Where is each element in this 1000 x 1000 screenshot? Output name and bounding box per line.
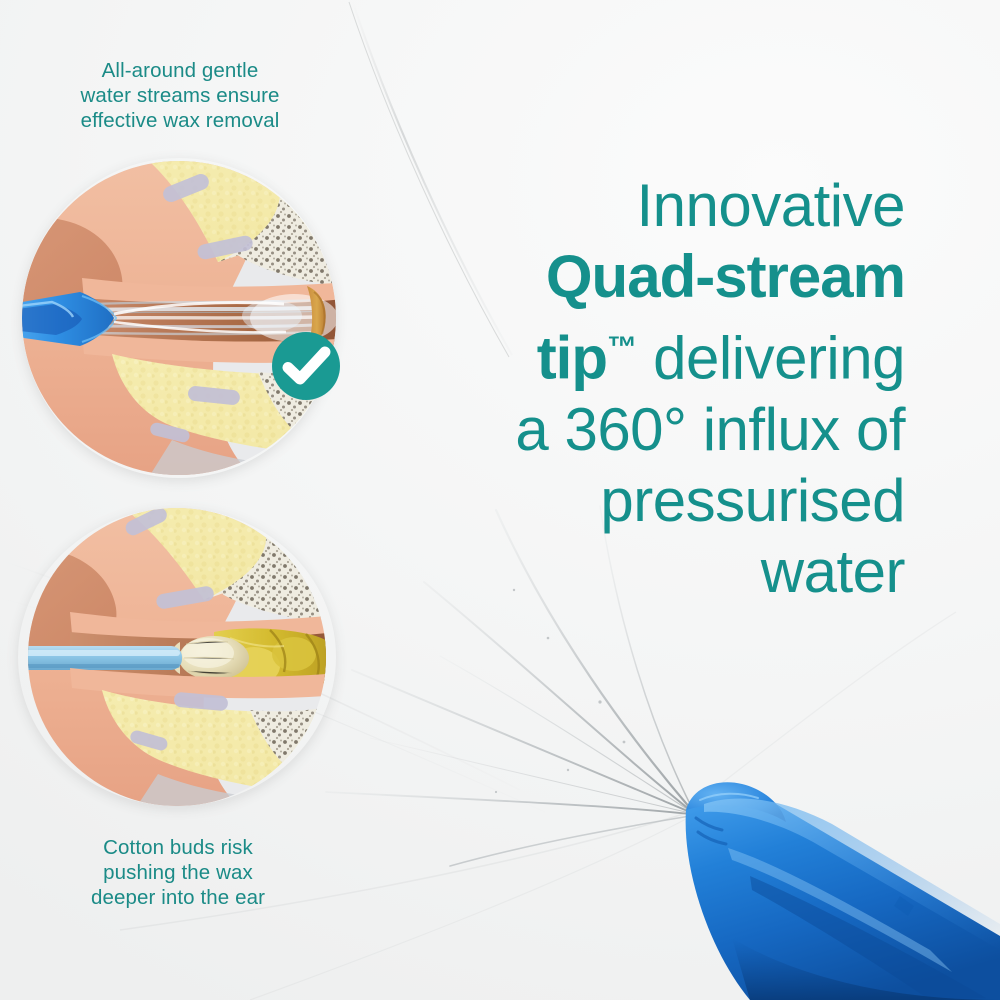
headline-water: water bbox=[761, 538, 905, 605]
headline-innovative: Innovative bbox=[636, 172, 905, 239]
headline-tip: tip bbox=[537, 325, 607, 392]
caption-top-benefit: All-around gentle water streams ensure e… bbox=[20, 58, 340, 133]
ear-canal-cottonbud-illustration bbox=[18, 508, 336, 806]
headline-line-1: Innovative bbox=[335, 170, 905, 241]
illustration-irrigation-wrap bbox=[22, 158, 336, 478]
caption-bottom-warning: Cotton buds risk pushing the wax deeper … bbox=[18, 835, 338, 910]
headline-line-5: pressurised bbox=[335, 465, 905, 536]
headline-line-2: Quad-stream bbox=[335, 241, 905, 312]
headline-influx: a 360° influx of bbox=[515, 396, 905, 463]
trademark-symbol: ™ bbox=[607, 331, 637, 364]
page-title: Innovative Quad-stream tip™ delivering a… bbox=[335, 170, 905, 607]
headline-delivering: delivering bbox=[637, 325, 905, 392]
illustration-cottonbud-wrap bbox=[18, 508, 336, 806]
check-mark-icon bbox=[270, 330, 342, 402]
ear-canal-irrigation-illustration bbox=[22, 158, 336, 478]
headline-quad-stream: Quad-stream bbox=[546, 243, 905, 310]
headline-line-3: tip™ delivering bbox=[335, 312, 905, 394]
headline-line-6: water bbox=[335, 536, 905, 607]
quad-stream-nozzle bbox=[600, 700, 1000, 1000]
headline-line-4: a 360° influx of bbox=[335, 394, 905, 465]
headline-pressurised: pressurised bbox=[600, 467, 905, 534]
product-graphic-canvas: All-around gentle water streams ensure e… bbox=[0, 0, 1000, 1000]
